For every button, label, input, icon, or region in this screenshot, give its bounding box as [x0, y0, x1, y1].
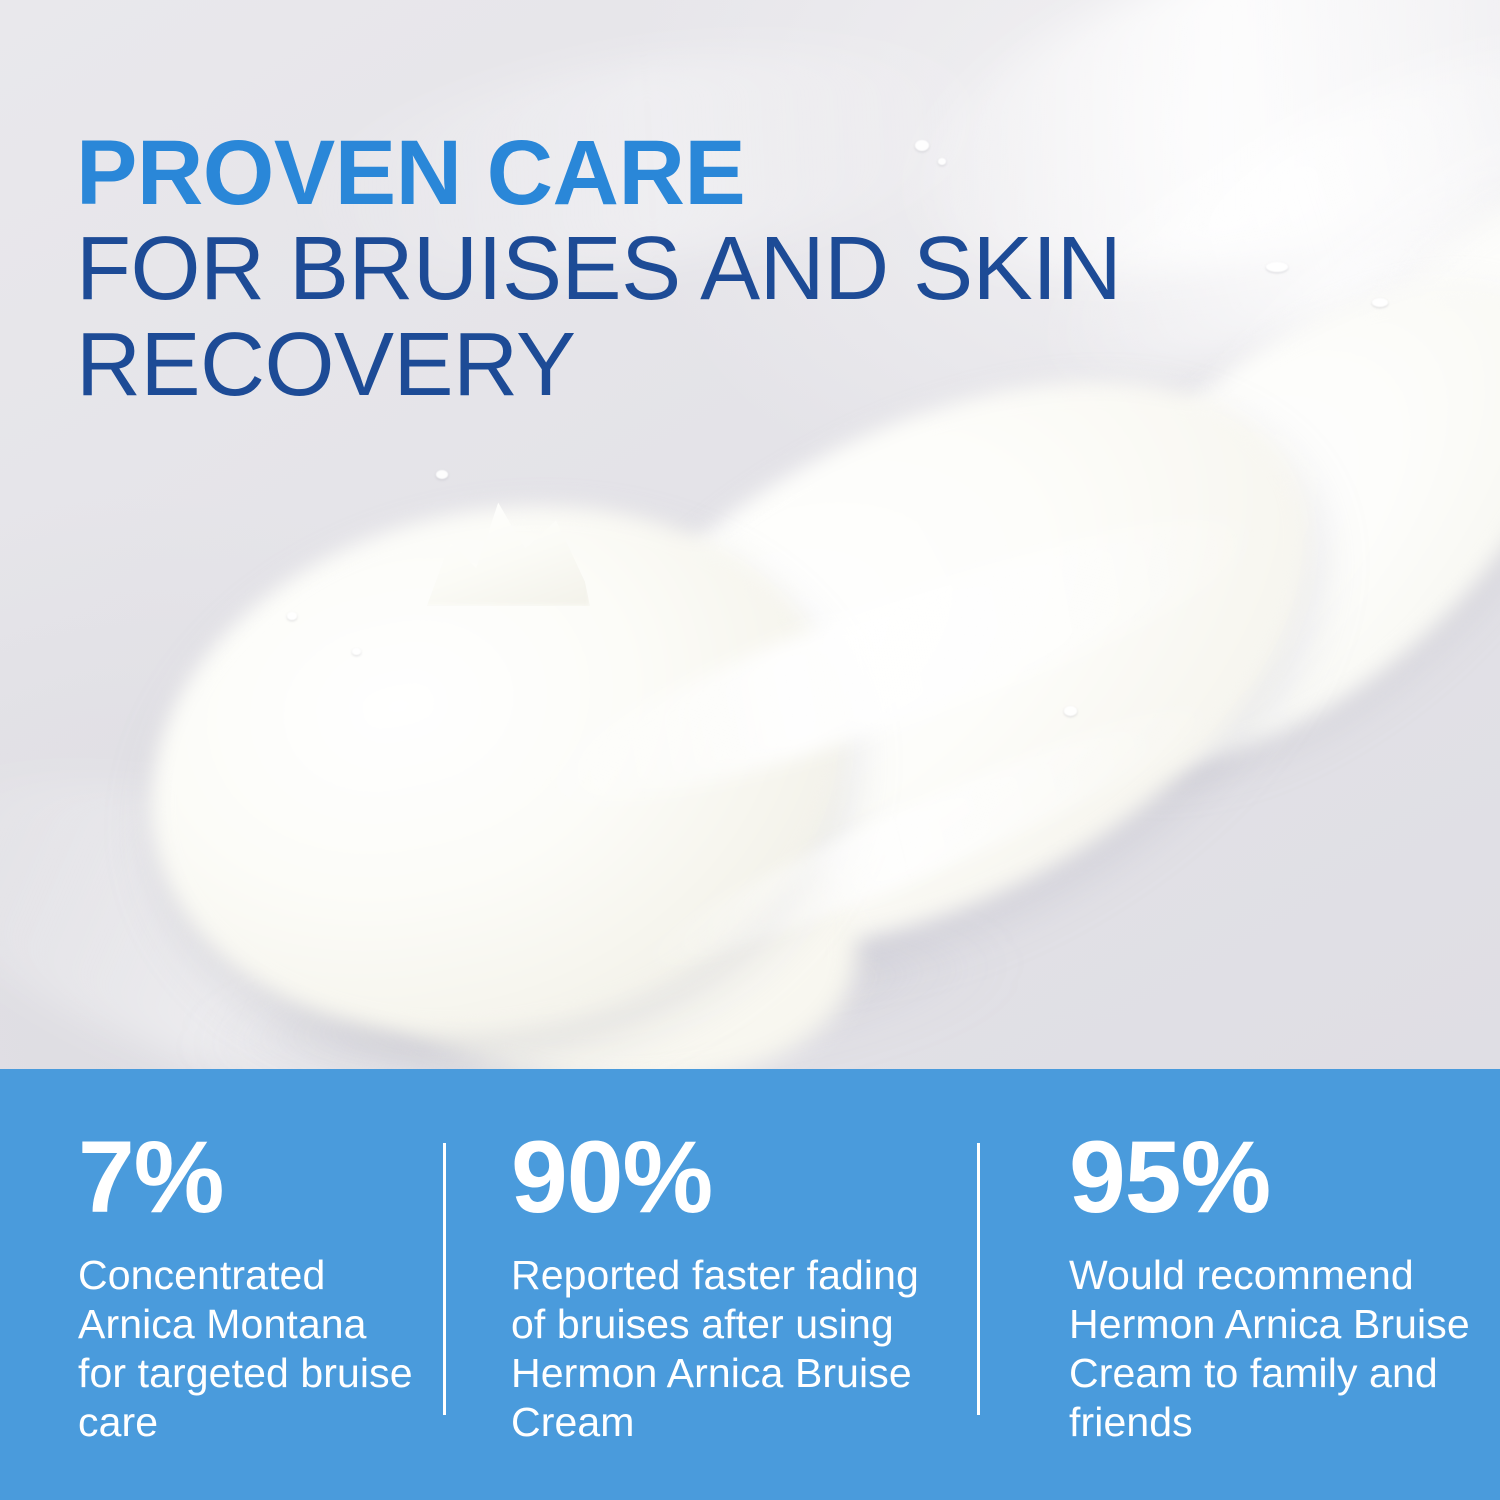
- hero-cream-photo: PROVEN CARE FOR BRUISES AND SKIN RECOVER…: [0, 0, 1500, 1069]
- water-droplet: [352, 648, 361, 655]
- stat-item: 7% Concentrated Arnica Montana for targe…: [0, 1069, 443, 1500]
- stat-item: 90% Reported faster fading of bruises af…: [443, 1069, 977, 1500]
- water-droplet: [436, 470, 448, 479]
- stat-value: 90%: [511, 1135, 957, 1221]
- stat-description: Concentrated Arnica Montana for targeted…: [78, 1251, 417, 1448]
- headline-block: PROVEN CARE FOR BRUISES AND SKIN RECOVER…: [76, 126, 1296, 413]
- stat-value: 95%: [1069, 1135, 1480, 1221]
- headline-line-1: PROVEN CARE: [76, 126, 1296, 221]
- stats-band: 7% Concentrated Arnica Montana for targe…: [0, 1069, 1500, 1500]
- stat-divider: [977, 1143, 980, 1415]
- headline-line-2: FOR BRUISES AND SKIN: [76, 221, 1296, 317]
- stats-grid: 7% Concentrated Arnica Montana for targe…: [0, 1069, 1500, 1500]
- product-infographic-poster: PROVEN CARE FOR BRUISES AND SKIN RECOVER…: [0, 0, 1500, 1500]
- headline-line-3: RECOVERY: [76, 317, 1296, 413]
- stat-divider: [443, 1143, 446, 1415]
- stat-description: Reported faster fading of bruises after …: [511, 1251, 957, 1448]
- water-droplet: [1372, 298, 1388, 307]
- water-droplet: [1064, 706, 1077, 716]
- stat-item: 95% Would recommend Hermon Arnica Bruise…: [977, 1069, 1500, 1500]
- water-droplet: [287, 612, 297, 620]
- stat-description: Would recommend Hermon Arnica Bruise Cre…: [1069, 1251, 1480, 1448]
- stat-value: 7%: [78, 1135, 417, 1221]
